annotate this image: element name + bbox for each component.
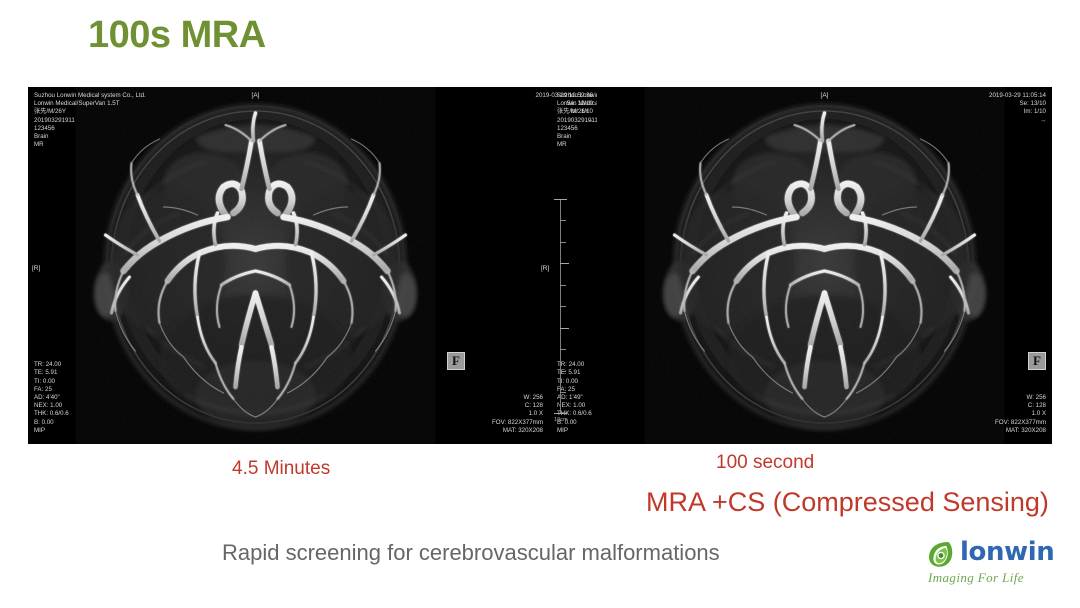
caption-right-technique: MRA +CS (Compressed Sensing) [646, 487, 1049, 518]
ruler-cap-bottom [554, 413, 567, 414]
company-logo: lonwin Imaging For Life [926, 537, 1066, 595]
ruler-tick [560, 263, 569, 264]
orientation-marker-anterior: [A] [252, 92, 260, 99]
logo-wordmark: lonwin [960, 537, 1054, 567]
ruler-tick [560, 242, 566, 243]
ruler-label: 10cm [554, 417, 568, 423]
dicom-window-params-left-panel: W: 256 C: 128 1.0 X FOV: 822X377mm MAT: … [425, 394, 543, 435]
orientation-marker-foot-left-panel: F [447, 352, 465, 370]
ruler-tick [560, 285, 566, 286]
dicom-window-params-right: W: 256 C: 128 1.0 X FOV: 822X377mm MAT: … [995, 394, 1046, 435]
ruler-tick [560, 220, 566, 221]
ruler-tick [560, 392, 566, 393]
panel-conventional-mra[interactable]: Suzhou Lonwin Medical system Co., Ltd. L… [28, 87, 483, 444]
caption-right-scan-time: 100 second [716, 452, 814, 474]
dicom-scan-params-left: TR: 24.00 TE: 5.91 TI: 0.00 FA: 25 AD: 4… [34, 361, 69, 435]
caption-left-scan-time: 4.5 Minutes [232, 458, 330, 480]
panel-compressed-sensing-mra[interactable]: 2019-03-29 11:05:14 Se: 13/10 Im: 1/10 →… [597, 87, 1052, 444]
mra-image-band: Suzhou Lonwin Medical system Co., Ltd. L… [28, 87, 1052, 444]
logo-tagline: Imaging For Life [928, 570, 1024, 586]
ruler-tick [560, 306, 566, 307]
slide-subtitle: Rapid screening for cerebrovascular malf… [222, 540, 720, 566]
dicom-header-left: Suzhou Lonwin Medical system Co., Ltd. L… [34, 92, 146, 149]
page-title: 100s MRA [88, 16, 266, 54]
leaf-icon [926, 539, 956, 569]
orientation-marker-foot-right-panel: F [1028, 352, 1046, 370]
ruler-tick [560, 349, 566, 350]
ruler-cap-top [554, 199, 567, 200]
brain-mra-image-right [597, 87, 1052, 444]
center-overlay-column: 2019-03-29 10:59:38 Se: 12/10 Im: 1/10 →… [483, 87, 597, 444]
measurement-ruler: 10cm [548, 199, 576, 414]
ruler-tick [560, 328, 569, 329]
orientation-marker-anterior-right: [A] [821, 92, 829, 99]
ruler-tick [560, 371, 566, 372]
orientation-marker-right: [R] [32, 265, 40, 272]
dicom-header-right: 2019-03-29 11:05:14 Se: 13/10 Im: 1/10 → [989, 92, 1046, 125]
